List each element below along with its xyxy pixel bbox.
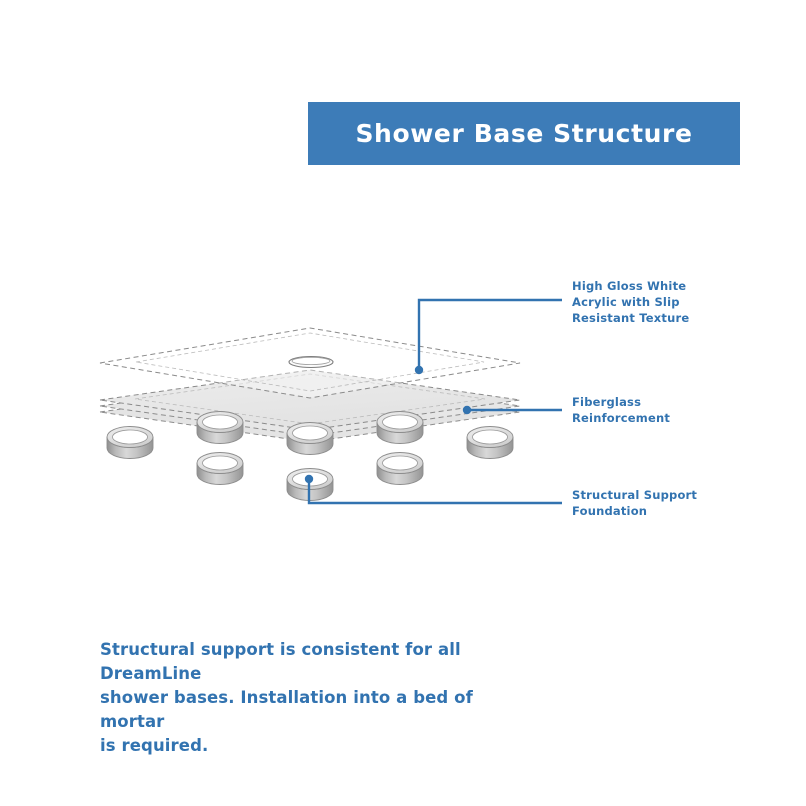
title-banner: Shower Base Structure	[308, 102, 740, 165]
fiberglass-panel-bottom-face	[100, 382, 520, 442]
drain-inner-ring	[292, 357, 330, 364]
fiberglass-panel-inner-edge	[135, 374, 485, 424]
support-ring	[467, 427, 513, 459]
drain-outer-ring	[289, 357, 333, 368]
support-ring	[377, 453, 423, 485]
drain-ellipse	[289, 357, 333, 368]
callout-fiberglass-label: Fiberglass Reinforcement	[572, 394, 670, 426]
leader-dot-support	[305, 475, 313, 483]
support-ring	[197, 412, 243, 444]
support-ring	[287, 397, 333, 429]
callout-structural-support-label: Structural Support Foundation	[572, 487, 697, 519]
support-ring	[377, 412, 423, 444]
fiberglass-panel-top-face	[100, 370, 520, 430]
page-root: Shower Base Structure	[0, 0, 806, 806]
footer-caption: Structural support is consistent for all…	[100, 638, 530, 758]
callout-leader-lines	[305, 300, 562, 503]
fiberglass-panel-layer	[100, 370, 520, 442]
support-ring	[287, 423, 333, 455]
leader-dot-acrylic	[415, 366, 423, 374]
acrylic-panel-top-face	[100, 328, 520, 398]
acrylic-panel-inner-edge	[136, 333, 484, 391]
support-ring	[287, 469, 333, 501]
support-ring	[107, 427, 153, 459]
callout-acrylic-label: High Gloss White Acrylic with Slip Resis…	[572, 278, 689, 326]
support-ring-group	[107, 397, 513, 501]
fiberglass-panel-mid-face	[100, 376, 520, 436]
support-ring	[197, 453, 243, 485]
leader-line-acrylic	[419, 300, 562, 370]
leader-dot-fiberglass	[463, 406, 471, 414]
page-title: Shower Base Structure	[355, 121, 692, 146]
leader-line-support	[309, 479, 562, 503]
acrylic-panel-layer	[100, 328, 520, 398]
